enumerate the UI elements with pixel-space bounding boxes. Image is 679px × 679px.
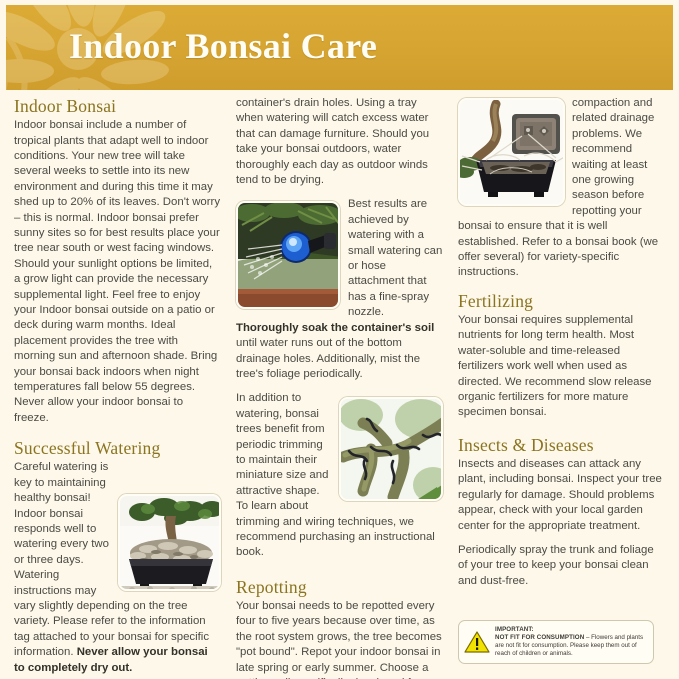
section-heading-insects-diseases: Insects & Diseases [458,435,665,455]
section-heading-repotting: Repotting [236,577,443,597]
warning-label: IMPORTANT: [495,626,647,634]
image-wired-branches [339,397,443,501]
section-heading-fertilizing: Fertilizing [458,291,665,311]
soak-bold-text: Thoroughly soak the container's soil [236,322,434,334]
paragraph-repotting: Your bonsai needs to be repotted every f… [236,599,443,679]
column-1: Indoor Bonsai Indoor bonsai include a nu… [14,96,221,679]
image-spray-nozzle-watering [236,201,340,309]
page-title: Indoor Bonsai Care [69,25,377,67]
paragraph-fertilizing: Your bonsai requires supplemental nutrie… [458,313,665,421]
warning-text: IMPORTANT: NOT FIT FOR CONSUMPTION – Flo… [495,626,647,657]
best-results-cont: until water runs out of the bottom drain… [236,337,420,380]
warning-box: IMPORTANT: NOT FIT FOR CONSUMPTION – Flo… [458,620,654,664]
paragraph-spray-trunk: Periodically spray the trunk and foliage… [458,543,665,589]
column-2: container's drain holes. Using a tray wh… [236,96,443,679]
column-3: compaction and related drainage problems… [458,96,665,598]
warning-triangle-icon [464,630,490,654]
image-pot-wire-diagram [458,98,565,206]
paragraph-insects: Insects and diseases can attack any plan… [458,457,665,534]
section-heading-indoor-bonsai: Indoor Bonsai [14,96,221,116]
document-page: Indoor Bonsai Care Indoor Bonsai Indoor … [0,0,679,679]
page-header: Indoor Bonsai Care [6,5,673,90]
warning-headline: NOT FIT FOR CONSUMPTION [495,634,584,641]
best-results-text: Best results are achieved by watering wi… [348,198,442,318]
image-bonsai-gravel-pot [118,494,221,591]
paragraph-indoor-bonsai: Indoor bonsai include a number of tropic… [14,118,221,426]
section-heading-successful-watering: Successful Watering [14,438,221,458]
paragraph-drain-holes: container's drain holes. Using a tray wh… [236,96,443,188]
content-columns: Indoor Bonsai Indoor bonsai include a nu… [0,96,679,679]
